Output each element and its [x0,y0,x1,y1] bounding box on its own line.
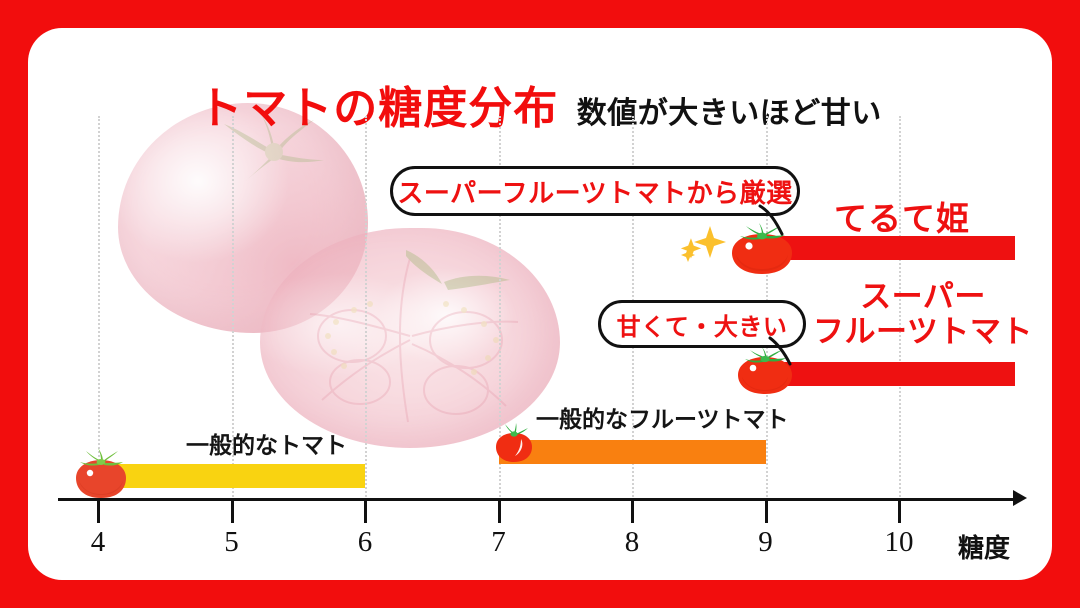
gridline-4 [98,116,100,500]
callout-sweet-tail-icon [766,336,802,366]
tomato-icon [494,422,534,464]
tick-6 [364,501,367,523]
callout-select-tail-icon [754,204,794,236]
arrow-right-icon [1013,490,1027,506]
series-label-line: フルーツトマト [804,315,1042,350]
bar-super-fruit-tomato [766,362,1016,386]
white-panel: トマトの糖度分布 数値が大きいほど甘い [28,28,1052,580]
gridline-6 [365,116,367,500]
tick-label-9: 9 [736,526,796,559]
tick-label-4: 4 [68,526,128,559]
tick-8 [631,501,634,523]
tick-7 [498,501,501,523]
tick-label-7: 7 [469,526,529,559]
infographic-canvas: トマトの糖度分布 数値が大きいほど甘い [0,0,1080,608]
series-label-line: スーパー [804,280,1042,315]
x-axis-title: 糖度 [958,528,1010,565]
tomato-icon [72,446,130,500]
tick-4 [97,501,100,523]
tick-label-6: 6 [335,526,395,559]
series-label-generic-fruit-tomato: 一般的なフルーツトマト [536,400,789,434]
sparkle-icon [680,224,728,270]
tick-10 [898,501,901,523]
tick-9 [765,501,768,523]
callout-select: スーパーフルーツトマトから厳選 [390,166,800,216]
bar-generic-tomato [98,464,365,488]
bar-generic-fruit-tomato [499,440,766,464]
tick-label-5: 5 [202,526,262,559]
series-label-generic-tomato: 一般的なトマト [186,426,347,460]
x-axis-line [58,498,1013,501]
tick-label-8: 8 [602,526,662,559]
series-label-teruhehime: てるて姫 [834,192,970,240]
series-label-super-fruit-tomato: スーパーフルーツトマト [804,280,1042,349]
tick-label-10: 10 [869,526,929,559]
plot-area: てるて姫 スーパーフルーツトマト 一般的なフルーツトマト 一般的なトマト スーパ… [28,28,1052,580]
tick-5 [231,501,234,523]
